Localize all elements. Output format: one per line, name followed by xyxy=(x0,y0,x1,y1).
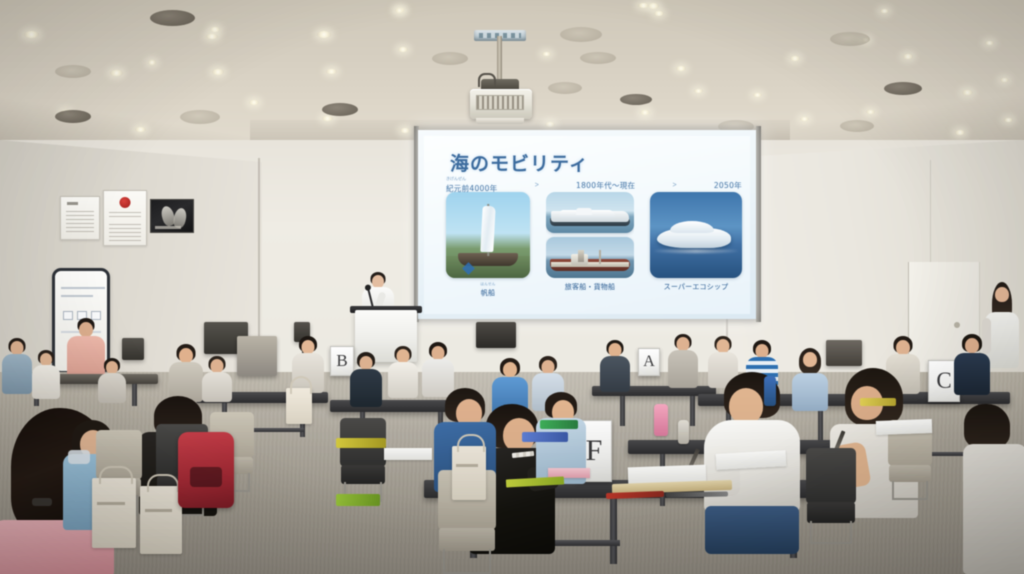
student-head xyxy=(302,340,315,354)
ceiling-downlight xyxy=(24,31,39,38)
caption-passenger-cargo: 旅客船・貨物船 xyxy=(546,282,634,298)
chair-seat xyxy=(889,465,931,483)
projection-screen: 海のモビリティ きげんぜん 紀元前4000年 > 1800年代～現在 > 205… xyxy=(418,130,756,319)
timeline-ruby: きげんぜん xyxy=(446,176,498,182)
face-mask xyxy=(68,450,90,464)
lanyard xyxy=(32,498,52,506)
ferry-art xyxy=(546,192,634,233)
student-head xyxy=(965,338,979,353)
student-seated xyxy=(348,352,384,406)
student-head xyxy=(756,344,769,358)
slide-title: 海のモビリティ xyxy=(450,149,589,176)
chair-seat xyxy=(439,528,495,551)
av-cart xyxy=(237,336,277,376)
timeline-label: 1800年代～現在 xyxy=(576,181,635,190)
caption-ruby: はんせん xyxy=(446,282,530,287)
side-equipment xyxy=(476,322,516,348)
student-torso xyxy=(32,365,60,399)
ferry-bridge xyxy=(576,208,592,215)
wall-panel-info-text xyxy=(60,196,100,240)
chair-seat xyxy=(341,465,385,483)
wall-corner-left xyxy=(258,158,260,363)
projector-mount-pole xyxy=(497,36,502,82)
student-seated xyxy=(598,340,632,392)
screen-frame-right xyxy=(756,126,761,322)
ceiling-downlight xyxy=(638,3,649,8)
board-line xyxy=(61,287,105,289)
timeline-arrow-icon: > xyxy=(673,182,677,189)
student-torso xyxy=(2,354,32,394)
student-seated xyxy=(0,338,34,394)
ship-wake xyxy=(654,249,739,253)
cargo-art xyxy=(546,237,634,278)
tote-bag xyxy=(286,388,312,424)
yellow-pencil-case xyxy=(336,438,386,448)
chair-legs xyxy=(892,481,929,500)
organization-logo-icon xyxy=(120,197,131,208)
student-shorts-blue xyxy=(705,506,799,554)
student-torso xyxy=(350,369,382,407)
tote-brand-mark xyxy=(456,464,478,467)
student-head xyxy=(896,340,910,355)
ceiling-vent xyxy=(55,65,91,78)
ceiling-vent xyxy=(180,110,220,124)
sailing-ship-image xyxy=(446,192,530,278)
chair-back xyxy=(806,448,856,504)
ceiling-downlight xyxy=(985,41,994,45)
worksheet xyxy=(384,448,432,460)
student-head xyxy=(542,360,555,374)
projector-base xyxy=(476,118,524,124)
student-head xyxy=(360,356,373,370)
ceiling-vent xyxy=(548,82,582,94)
ceiling-downlight xyxy=(212,69,224,75)
green-pencil-case xyxy=(540,420,578,429)
yellow-item xyxy=(860,398,896,406)
student-foreground-far-right xyxy=(962,404,1024,574)
ceiling-downlight xyxy=(1004,118,1013,122)
caption-text: 旅客船・貨物船 xyxy=(565,283,615,291)
ceiling-downlight xyxy=(648,3,659,9)
chair-legs xyxy=(810,521,852,544)
ceiling-downlight xyxy=(398,47,408,52)
ceiling-downlight xyxy=(753,93,762,97)
student-torso xyxy=(388,362,418,398)
ceiling-projector xyxy=(470,89,532,119)
ceiling-downlight xyxy=(148,60,156,65)
small-device xyxy=(122,338,144,360)
ceiling-downlight xyxy=(903,54,913,59)
ceiling-downlight xyxy=(694,89,703,93)
passenger-ferry-image xyxy=(546,192,634,233)
board-line xyxy=(61,295,93,297)
wall-panel-logo xyxy=(103,190,147,246)
cargo-ship-image xyxy=(546,237,634,278)
backpack-red xyxy=(178,432,234,508)
ceiling-downlight xyxy=(955,130,965,135)
ceiling-speaker xyxy=(150,10,195,26)
water-bottle-pink xyxy=(654,404,668,436)
super-eco-ship-image xyxy=(650,192,742,278)
chair[interactable] xyxy=(806,448,856,544)
student-head xyxy=(609,343,622,357)
green-box xyxy=(336,494,380,506)
water-bottle-blue xyxy=(764,376,776,406)
timeline-step-2: 1800年代～現在 xyxy=(576,180,635,191)
wall-panel-photo xyxy=(150,199,194,233)
timeline-arrow-icon: > xyxy=(535,182,539,189)
chair[interactable] xyxy=(340,418,386,502)
ceiling-speaker xyxy=(322,103,358,116)
ceiling-downlight xyxy=(880,9,889,13)
student-seated xyxy=(386,346,420,398)
ceiling-downlight xyxy=(866,110,875,114)
tote-brand-mark xyxy=(97,502,125,505)
ceiling-vent xyxy=(560,27,602,42)
student-torso xyxy=(600,356,630,392)
student-head xyxy=(179,348,193,363)
adult-head xyxy=(79,322,93,337)
door-handle-icon[interactable] xyxy=(954,322,960,328)
ceiling-downlight xyxy=(395,8,404,13)
ceiling-downlight xyxy=(676,66,686,71)
ceiling-downlight xyxy=(962,90,973,95)
student-torso xyxy=(668,350,698,388)
cargo-funnel xyxy=(578,250,584,262)
student-torso xyxy=(98,373,126,403)
ceiling-downlight xyxy=(542,52,551,56)
photo-caption-bar xyxy=(155,226,181,229)
panel-text-lines xyxy=(66,211,94,233)
ceiling-vent xyxy=(830,32,870,46)
ceiling-downlight xyxy=(322,116,333,121)
table-leg xyxy=(610,498,617,564)
timeline-label: 2050年 xyxy=(714,181,742,190)
caption-super-eco-ship: スーパーエコシップ xyxy=(650,282,742,298)
cargo-deck xyxy=(551,262,628,267)
tote-brand-mark xyxy=(145,509,172,512)
ceiling-downlight xyxy=(210,27,220,32)
panel-text-lines xyxy=(109,224,141,241)
table-placard-a: A xyxy=(638,348,660,376)
ceiling-speaker xyxy=(620,94,652,105)
student-hair xyxy=(964,404,1010,448)
ceiling-vent xyxy=(580,52,616,64)
panel-heading-bar xyxy=(67,202,78,205)
student-head xyxy=(729,388,763,424)
tote-bag xyxy=(452,446,486,500)
student-head xyxy=(432,346,445,360)
caption-text: 帆船 xyxy=(481,289,495,297)
student-torso xyxy=(954,353,990,395)
chair-seat xyxy=(807,502,855,523)
student-torso xyxy=(963,444,1024,574)
classroom-scene: 海のモビリティ きげんぜん 紀元前4000年 > 1800年代～現在 > 205… xyxy=(0,0,1024,574)
ceiling-speaker xyxy=(884,82,922,95)
student-head xyxy=(803,352,817,367)
presentation-slide: 海のモビリティ きげんぜん 紀元前4000年 > 1800年代～現在 > 205… xyxy=(424,136,750,314)
student-head xyxy=(11,341,24,355)
ceiling-downlight xyxy=(326,69,337,74)
slide-captions: はんせん 帆船 旅客船・貨物船 スーパーエコシップ xyxy=(446,282,742,298)
water-bottle xyxy=(678,420,689,444)
adult-head xyxy=(995,287,1009,302)
ceiling-vent xyxy=(840,120,874,132)
caption-text: スーパーエコシップ xyxy=(664,283,729,291)
ceiling-downlight xyxy=(317,31,331,38)
panel-title-lines xyxy=(109,212,141,220)
slide-card-passenger-cargo xyxy=(546,192,634,278)
student-head xyxy=(211,359,224,373)
tote-bag xyxy=(140,486,182,554)
chair-legs xyxy=(443,549,492,574)
slide-image-cards xyxy=(446,192,742,278)
ceiling-speaker xyxy=(55,110,91,123)
timeline-step-3: 2050年 xyxy=(714,180,742,191)
blue-pencil-case xyxy=(522,432,568,442)
caption-sailing-ship: はんせん 帆船 xyxy=(446,282,530,298)
ceiling-downlight xyxy=(654,11,664,16)
ceiling-downlight xyxy=(800,117,809,121)
student-seated xyxy=(96,358,128,402)
ceiling-downlight xyxy=(640,110,650,115)
student-head xyxy=(717,339,730,353)
table-leg xyxy=(620,396,625,426)
ceiling-downlight xyxy=(135,127,146,132)
ceiling-downlight xyxy=(790,56,800,61)
student-seated xyxy=(30,350,62,398)
student-seated xyxy=(666,334,700,388)
student-head xyxy=(397,349,410,363)
cargo-crane xyxy=(599,250,601,264)
eco-ship-dome xyxy=(670,221,714,233)
student-head xyxy=(503,362,517,377)
student-head xyxy=(677,337,690,351)
ceiling-downlight xyxy=(400,128,410,133)
projector-grille xyxy=(476,95,524,110)
ship-sail xyxy=(480,206,495,252)
ceiling-downlight xyxy=(206,34,218,39)
student-seated xyxy=(952,334,992,394)
ceiling-vent xyxy=(432,52,468,65)
slide-card-super-eco-ship xyxy=(650,192,742,278)
ceiling-downlight xyxy=(1000,78,1009,82)
ceiling-downlight xyxy=(249,100,259,105)
table-leg xyxy=(690,396,695,426)
slide-card-sailing-ship xyxy=(446,192,530,278)
tote-bag xyxy=(92,478,136,548)
ceiling-downlight xyxy=(110,70,123,76)
worksheet xyxy=(876,419,932,435)
side-equipment xyxy=(826,340,862,366)
